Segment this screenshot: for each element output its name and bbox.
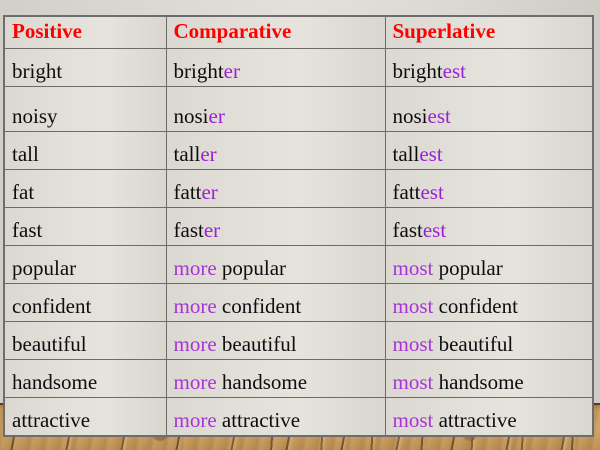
cell-superlative: most attractive: [385, 398, 593, 437]
adjective-degrees-table: Positive Comparative Superlative brightb…: [3, 15, 594, 437]
column-header-positive: Positive: [4, 16, 166, 49]
word-stem: tall: [174, 142, 201, 166]
word-stem: popular: [222, 256, 286, 280]
cell-positive: popular: [4, 246, 166, 284]
table-row: popularmore popularmost popular: [4, 246, 593, 284]
word-stem: fast: [174, 218, 204, 242]
cell-comparative: taller: [166, 132, 385, 170]
word-stem: handsome: [222, 370, 307, 394]
cell-positive: tall: [4, 132, 166, 170]
table-row: brightbrighterbrightest: [4, 49, 593, 87]
word-stem: fatt: [393, 180, 421, 204]
degree-word: more: [174, 294, 222, 318]
degree-word: most: [393, 256, 439, 280]
column-header-comparative: Comparative: [166, 16, 385, 49]
table-row: fatfatterfattest: [4, 170, 593, 208]
table-row: noisynosiernosiest: [4, 87, 593, 132]
degree-word: more: [174, 332, 222, 356]
cell-comparative: more attractive: [166, 398, 385, 437]
word-stem: nosi: [174, 104, 209, 128]
cell-positive: confident: [4, 284, 166, 322]
cell-superlative: most handsome: [385, 360, 593, 398]
degree-word: most: [393, 294, 439, 318]
cell-positive: noisy: [4, 87, 166, 132]
cell-comparative: nosier: [166, 87, 385, 132]
word-suffix: er: [204, 218, 220, 242]
column-header-superlative: Superlative: [385, 16, 593, 49]
word-stem: bright: [393, 59, 443, 83]
word-stem: beautiful: [222, 332, 297, 356]
cell-superlative: tallest: [385, 132, 593, 170]
word-suffix: er: [224, 59, 240, 83]
word-suffix: est: [419, 142, 442, 166]
word-suffix: est: [443, 59, 466, 83]
cell-comparative: more handsome: [166, 360, 385, 398]
word-suffix: est: [428, 104, 451, 128]
word-suffix: er: [200, 142, 216, 166]
cell-positive: attractive: [4, 398, 166, 437]
word-stem: confident: [439, 294, 518, 318]
cell-superlative: most beautiful: [385, 322, 593, 360]
slide-canvas: Positive Comparative Superlative brightb…: [0, 0, 600, 450]
degree-word: more: [174, 370, 222, 394]
cell-comparative: more popular: [166, 246, 385, 284]
word-stem: fast: [393, 218, 423, 242]
cell-superlative: most popular: [385, 246, 593, 284]
cell-comparative: faster: [166, 208, 385, 246]
table-row: handsomemore handsomemost handsome: [4, 360, 593, 398]
table-row: beautifulmore beautifulmost beautiful: [4, 322, 593, 360]
degree-word: most: [393, 332, 439, 356]
cell-superlative: nosiest: [385, 87, 593, 132]
cell-positive: fast: [4, 208, 166, 246]
cell-comparative: fatter: [166, 170, 385, 208]
cell-superlative: brightest: [385, 49, 593, 87]
word-stem: confident: [222, 294, 301, 318]
word-stem: beautiful: [439, 332, 514, 356]
word-suffix: est: [423, 218, 446, 242]
word-stem: attractive: [439, 408, 517, 432]
degree-word: most: [393, 370, 439, 394]
table-row: talltallertallest: [4, 132, 593, 170]
word-stem: fatt: [174, 180, 202, 204]
cell-comparative: brighter: [166, 49, 385, 87]
cell-comparative: more beautiful: [166, 322, 385, 360]
word-stem: handsome: [439, 370, 524, 394]
cell-positive: handsome: [4, 360, 166, 398]
table-body: brightbrighterbrightestnoisynosiernosies…: [4, 49, 593, 437]
cell-superlative: fastest: [385, 208, 593, 246]
table-row: fastfasterfastest: [4, 208, 593, 246]
degree-word: more: [174, 408, 222, 432]
cell-superlative: fattest: [385, 170, 593, 208]
cell-positive: bright: [4, 49, 166, 87]
cell-comparative: more confident: [166, 284, 385, 322]
word-stem: bright: [174, 59, 224, 83]
table-row: attractivemore attractivemost attractive: [4, 398, 593, 437]
cell-superlative: most confident: [385, 284, 593, 322]
degree-word: more: [174, 256, 222, 280]
word-stem: tall: [393, 142, 420, 166]
cell-positive: fat: [4, 170, 166, 208]
table-header-row: Positive Comparative Superlative: [4, 16, 593, 49]
cell-positive: beautiful: [4, 322, 166, 360]
table-row: confidentmore confidentmost confident: [4, 284, 593, 322]
degree-word: most: [393, 408, 439, 432]
word-suffix: er: [209, 104, 225, 128]
word-suffix: er: [201, 180, 217, 204]
word-stem: nosi: [393, 104, 428, 128]
word-stem: attractive: [222, 408, 300, 432]
word-stem: popular: [439, 256, 503, 280]
word-suffix: est: [420, 180, 443, 204]
